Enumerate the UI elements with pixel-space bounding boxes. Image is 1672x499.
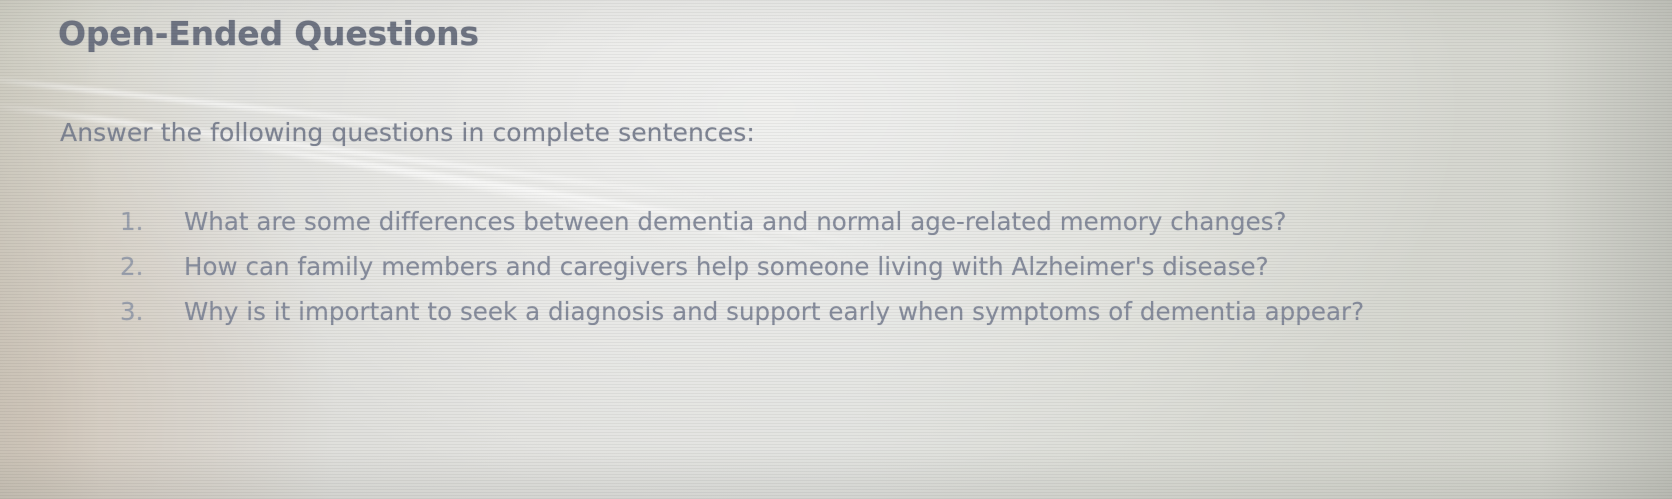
vignette-overlay — [0, 0, 1672, 499]
screen-photo: Open-Ended Questions Answer the followin… — [0, 0, 1672, 499]
